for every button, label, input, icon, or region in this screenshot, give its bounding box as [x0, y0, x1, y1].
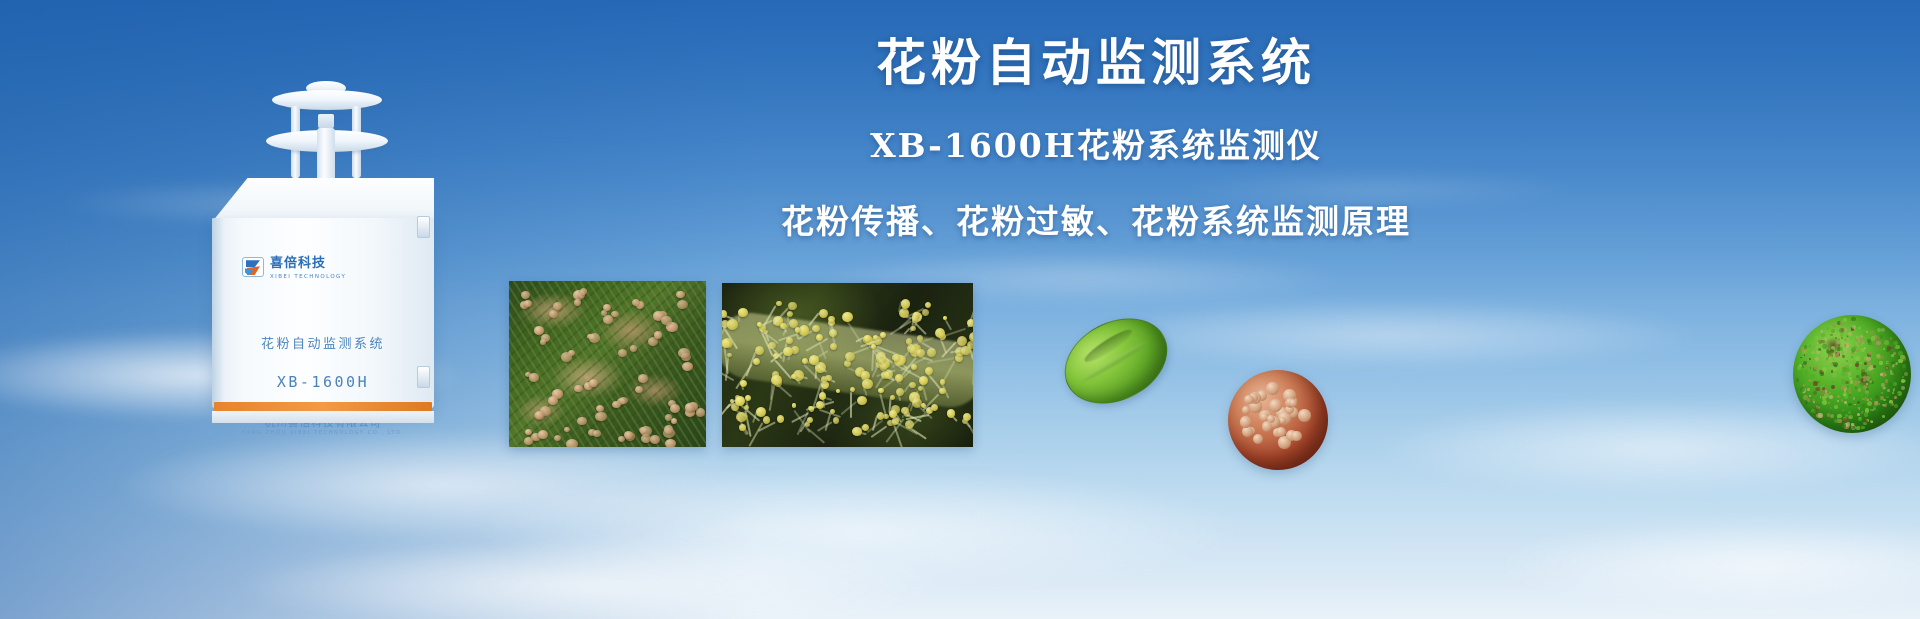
- catkin-anther: [763, 416, 771, 424]
- pollen-surface-speck: [1866, 357, 1870, 361]
- cypress-cone: [534, 326, 544, 334]
- catkin-anther: [783, 347, 792, 356]
- cypress-cone: [678, 348, 689, 358]
- pollen-surface-speck: [1818, 413, 1823, 418]
- catkin-anther: [756, 407, 766, 417]
- pollen-surface-speck: [1840, 333, 1844, 337]
- cypress-cone: [696, 408, 706, 417]
- cypress-cone: [665, 414, 673, 421]
- pollen-surface-speck: [1815, 357, 1819, 361]
- pollen-surface-speck: [1832, 381, 1834, 383]
- catkin-anther: [740, 380, 747, 387]
- pollen-surface-speck: [1813, 391, 1817, 395]
- cypress-cone: [529, 373, 538, 381]
- cabinet-latch-upper-icon: [417, 216, 430, 238]
- catkin-anther: [828, 316, 835, 323]
- pollen-surface-speck: [1809, 395, 1811, 397]
- pollen-surface-speck: [1856, 349, 1859, 352]
- pollen-surface-speck: [1870, 330, 1875, 335]
- pollen-surface-speck: [1822, 344, 1827, 349]
- pollen-surface-speck: [1860, 362, 1862, 364]
- sampler-top-disc: [272, 90, 382, 110]
- pollen-surface-speck: [1860, 323, 1862, 325]
- pollen-surface-speck: [1814, 366, 1818, 370]
- pollen-surface-speck: [1895, 376, 1899, 380]
- cypress-cone: [549, 310, 558, 318]
- pollen-surface-speck: [1886, 348, 1890, 352]
- pollen-monitor-device: 喜倍科技 XIBEI TECHNOLOGY 花粉自动监测系统 XB-1600H …: [196, 78, 456, 438]
- cabinet-base: [212, 411, 434, 423]
- catkin-anther: [812, 325, 819, 332]
- cypress-cone: [524, 300, 532, 307]
- device-brand-logo: 喜倍科技 XIBEI TECHNOLOGY: [242, 254, 346, 281]
- pollen-grain-ellipsoid: [1050, 302, 1182, 421]
- catkin-anther: [947, 409, 956, 418]
- pollen-surface-speck: [1894, 404, 1898, 408]
- catkin-anther: [722, 338, 732, 348]
- pollen-surface-speck: [1811, 351, 1815, 355]
- pollen-surface-speck: [1863, 385, 1867, 389]
- pollen-surface-speck: [1821, 340, 1825, 344]
- pollen-surface-speck: [1837, 351, 1839, 353]
- cypress-cone: [650, 435, 660, 444]
- pollen-surface-speck: [1883, 387, 1885, 389]
- catkin-anther: [889, 410, 897, 418]
- pollen-surface-speck: [1892, 364, 1895, 367]
- catkin-anther: [901, 407, 908, 414]
- pollen-surface-speck: [1851, 317, 1856, 322]
- pollen-surface-speck: [1887, 389, 1890, 392]
- pollen-surface-speck: [1841, 337, 1843, 339]
- catkin-anther: [864, 335, 871, 342]
- pollen-surface-speck: [1841, 379, 1846, 384]
- cypress-cone: [589, 333, 600, 343]
- pollen-surface-speck: [1800, 387, 1805, 392]
- cypress-cone: [640, 426, 652, 436]
- pollen-surface-speck: [1837, 400, 1839, 402]
- catkin-anther: [845, 352, 854, 361]
- pollen-surface-speck: [1813, 381, 1817, 385]
- pollen-surface-speck: [1856, 426, 1860, 430]
- cloud-wisp: [1500, 520, 1920, 610]
- pollen-surface-speck: [1799, 364, 1802, 367]
- catkin-anther: [744, 405, 749, 410]
- pollen-surface-speck: [1832, 373, 1837, 378]
- pollen-surface-speck: [1857, 413, 1860, 416]
- cypress-cone: [632, 299, 640, 306]
- pollen-surface-speck: [1863, 379, 1866, 382]
- pollen-surface-speck: [1862, 404, 1865, 407]
- pollen-surface-speck: [1833, 366, 1838, 371]
- pollen-surface-speck: [1893, 341, 1898, 346]
- pollen-surface-speck: [1809, 345, 1811, 347]
- cypress-cone: [603, 315, 613, 323]
- pollen-surface-speck: [1827, 350, 1831, 354]
- pollen-surface-speck: [1884, 340, 1888, 344]
- pollen-surface-speck: [1800, 357, 1802, 359]
- catkin-anther: [892, 354, 900, 362]
- pollen-surface-speck: [1807, 398, 1810, 401]
- pollen-surface-speck: [1859, 417, 1861, 419]
- pollen-surface-speck: [1855, 343, 1859, 347]
- pollen-surface-speck: [1828, 337, 1831, 340]
- pollen-surface-speck: [1881, 356, 1884, 359]
- pollen-bump: [1262, 421, 1272, 431]
- pollen-surface-speck: [1876, 354, 1880, 358]
- pollen-surface-speck: [1808, 379, 1811, 382]
- device-model-label: XB-1600H: [196, 373, 450, 391]
- device-brand-en: XIBEI TECHNOLOGY: [270, 274, 346, 281]
- pollen-surface-speck: [1813, 346, 1815, 348]
- cypress-cone: [664, 425, 673, 433]
- pollen-surface-speck: [1820, 396, 1822, 398]
- pollen-surface-speck: [1817, 342, 1819, 344]
- device-product-title: 花粉自动监测系统: [196, 333, 450, 352]
- pollen-surface-speck: [1824, 393, 1829, 398]
- pollen-surface-speck: [1851, 356, 1853, 358]
- pollen-surface-speck: [1841, 399, 1843, 401]
- pollen-surface-speck: [1858, 388, 1861, 391]
- pollen-surface-speck: [1834, 326, 1836, 328]
- pollen-surface-speck: [1864, 412, 1869, 417]
- catkin-anther: [963, 413, 971, 421]
- pollen-surface-speck: [1848, 376, 1850, 378]
- pollen-surface-speck: [1848, 403, 1851, 406]
- pollen-surface-speck: [1876, 341, 1881, 346]
- pollen-bump: [1244, 395, 1253, 404]
- pollen-surface-speck: [1864, 397, 1868, 401]
- pollen-surface-speck: [1861, 369, 1865, 373]
- pollen-surface-speck: [1865, 390, 1869, 394]
- pollen-surface-speck: [1898, 359, 1903, 364]
- pollen-surface-speck: [1813, 401, 1815, 403]
- cypress-cone: [612, 401, 620, 408]
- pollen-surface-speck: [1886, 396, 1888, 398]
- cypress-cone: [577, 417, 586, 425]
- cypress-cone: [524, 437, 533, 445]
- catkin-anther: [922, 309, 929, 316]
- cypress-cone: [561, 352, 572, 362]
- pollen-surface-speck: [1826, 327, 1829, 330]
- banner-headline: 花粉自动监测系统: [556, 34, 1636, 93]
- cypress-cone: [682, 362, 692, 371]
- pollen-surface-speck: [1832, 362, 1834, 364]
- pollen-surface-speck: [1887, 362, 1889, 364]
- pollen-surface-speck: [1829, 366, 1833, 370]
- pollen-surface-speck: [1852, 325, 1856, 329]
- cypress-cone: [595, 412, 606, 422]
- catkin-anther: [910, 326, 916, 332]
- catkin-anther: [850, 387, 855, 392]
- pollen-surface-speck: [1865, 367, 1868, 370]
- pollen-surface-speck: [1902, 364, 1906, 368]
- pollen-surface-speck: [1868, 362, 1871, 365]
- pollen-surface-speck: [1858, 339, 1860, 341]
- pollen-surface-speck: [1822, 387, 1825, 390]
- pollen-surface-speck: [1845, 381, 1848, 384]
- pollen-surface-speck: [1853, 397, 1856, 400]
- pollen-surface-speck: [1816, 350, 1820, 354]
- device-brand-cn: 喜倍科技: [270, 256, 326, 271]
- pollen-surface-speck: [1812, 399, 1815, 402]
- catkin-anther: [961, 346, 970, 355]
- cabinet-top-panel: [212, 178, 434, 222]
- banner-subtitle: XB-1600H花粉系统监测仪: [556, 119, 1636, 167]
- pollen-surface-speck: [1822, 367, 1827, 372]
- catkin-anther: [890, 395, 895, 400]
- pollen-grain-spiky: [1216, 358, 1340, 482]
- catkin-anther: [909, 382, 915, 388]
- pollen-surface-speck: [1898, 351, 1903, 356]
- pollen-monitoring-banner: 花粉自动监测系统 XB-1600H花粉系统监测仪 花粉传播、花粉过敏、花粉系统监…: [0, 0, 1920, 619]
- catkin-anther: [819, 392, 826, 399]
- cypress-cone: [665, 439, 676, 447]
- catkin-anther: [819, 309, 828, 318]
- pollen-bump: [1242, 426, 1253, 437]
- cypress-cone: [580, 288, 587, 295]
- catkin-anther: [862, 379, 872, 389]
- pollen-grain-sphere: [1793, 315, 1911, 433]
- catkin-anther: [788, 302, 796, 310]
- catkin-anther: [833, 417, 840, 424]
- cypress-cone: [618, 349, 627, 357]
- pollen-surface-speck: [1837, 414, 1842, 419]
- pollen-surface-speck: [1853, 380, 1857, 384]
- catkin-anther: [895, 374, 903, 382]
- pollen-surface-speck: [1867, 367, 1871, 371]
- pollen-surface-speck: [1852, 426, 1855, 429]
- cabinet-orange-stripe: [214, 402, 432, 411]
- catkin-anther: [917, 349, 925, 357]
- sampler-stem: [317, 128, 335, 186]
- pollen-surface-speck: [1809, 358, 1811, 360]
- catkin-anther: [753, 358, 760, 365]
- pollen-surface-speck: [1882, 404, 1884, 406]
- catkin-anther: [943, 316, 947, 320]
- pollen-surface-speck: [1879, 335, 1883, 339]
- pollen-surface-speck: [1842, 355, 1844, 357]
- catkin-anther: [917, 335, 924, 342]
- pollen-surface-speck: [1881, 383, 1884, 386]
- pollen-surface-speck: [1886, 367, 1888, 369]
- banner-headings: 花粉自动监测系统 XB-1600H花粉系统监测仪 花粉传播、花粉过敏、花粉系统监…: [556, 34, 1636, 243]
- cypress-cone: [661, 316, 671, 325]
- catkin-anther: [799, 325, 809, 335]
- pollen-bump: [1298, 409, 1311, 422]
- pollen-surface-speck: [1866, 376, 1871, 381]
- pollen-surface-speck: [1844, 338, 1847, 341]
- pollen-surface-speck: [1877, 328, 1881, 332]
- pollen-surface-speck: [1810, 374, 1814, 378]
- cypress-cone: [618, 436, 625, 442]
- pollen-surface-speck: [1843, 392, 1846, 395]
- cypress-cone: [638, 374, 648, 383]
- pollen-surface-speck: [1822, 400, 1827, 405]
- pollen-surface-speck: [1869, 341, 1874, 346]
- catkin-anther: [787, 311, 793, 317]
- pollen-surface-speck: [1871, 421, 1873, 423]
- catkin-anther: [736, 412, 747, 423]
- pollen-surface-speck: [1861, 372, 1865, 376]
- pollen-surface-speck: [1852, 350, 1854, 352]
- catkin-anther: [795, 327, 801, 333]
- pollen-bump: [1240, 416, 1252, 428]
- cypress-cone: [566, 439, 578, 447]
- catkin-anther: [755, 346, 764, 355]
- pollen-bump: [1289, 399, 1297, 407]
- pollen-surface-speck: [1857, 401, 1860, 404]
- pollen-surface-speck: [1873, 365, 1876, 368]
- cloud-wisp: [480, 470, 1240, 590]
- catkin-anther: [739, 424, 745, 430]
- pollen-surface-speck: [1895, 363, 1897, 365]
- pollen-surface-speck: [1842, 424, 1846, 428]
- pollen-bump: [1269, 399, 1282, 412]
- pollen-surface-speck: [1892, 392, 1894, 394]
- pollen-surface-speck: [1830, 334, 1833, 337]
- pollen-surface-speck: [1835, 353, 1840, 358]
- pollen-surface-speck: [1897, 393, 1899, 395]
- cypress-cone: [525, 429, 532, 435]
- catkin-anther: [727, 319, 738, 330]
- catkin-anther: [735, 396, 745, 406]
- pollen-surface-speck: [1901, 386, 1905, 390]
- catkin-anther: [842, 312, 852, 322]
- pollen-surface-speck: [1855, 356, 1859, 360]
- pollen-surface-speck: [1840, 321, 1844, 325]
- photo-catkin-flower: [722, 283, 973, 447]
- pollen-surface-speck: [1848, 411, 1850, 413]
- catkin-anther: [757, 322, 762, 327]
- pollen-surface-speck: [1817, 404, 1820, 407]
- cloud-wisp: [240, 540, 940, 619]
- sampler-inlet-icon: [318, 114, 334, 128]
- catkin-anther: [792, 403, 797, 408]
- catkin-anther: [852, 427, 862, 437]
- cypress-cone: [593, 430, 600, 437]
- banner-description: 花粉传播、花粉过敏、花粉系统监测原理: [556, 195, 1636, 243]
- cypress-cone: [574, 299, 582, 306]
- xibei-logo-icon: [242, 257, 264, 277]
- catkin-anther: [880, 332, 886, 338]
- pollen-surface-speck: [1835, 337, 1837, 339]
- pollen-surface-speck: [1804, 396, 1806, 398]
- pollen-bump: [1253, 434, 1263, 444]
- catkin-anther: [830, 409, 835, 414]
- pollen-surface-speck: [1818, 381, 1820, 383]
- device-company-en: HANG ZHOU XIBEI TECHNOLOGY CO., LTD.: [196, 430, 450, 436]
- pollen-surface-speck: [1848, 372, 1852, 376]
- catkin-anther: [821, 376, 827, 382]
- pollen-surface-speck: [1871, 336, 1876, 341]
- pollen-surface-speck: [1879, 361, 1882, 364]
- cypress-cone: [685, 403, 694, 411]
- cypress-cone: [574, 385, 583, 393]
- cypress-cone: [670, 404, 680, 413]
- pollen-bump: [1291, 431, 1302, 442]
- device-brand-text: 喜倍科技 XIBEI TECHNOLOGY: [270, 254, 346, 281]
- photo-cypress-cones: [509, 281, 706, 447]
- pollen-surface-speck: [1828, 357, 1833, 362]
- pollen-surface-speck: [1846, 360, 1848, 362]
- pollen-surface-speck: [1842, 409, 1844, 411]
- pollen-surface-speck: [1855, 387, 1857, 389]
- catkin-anther: [940, 379, 946, 385]
- catkin-anther: [745, 395, 751, 401]
